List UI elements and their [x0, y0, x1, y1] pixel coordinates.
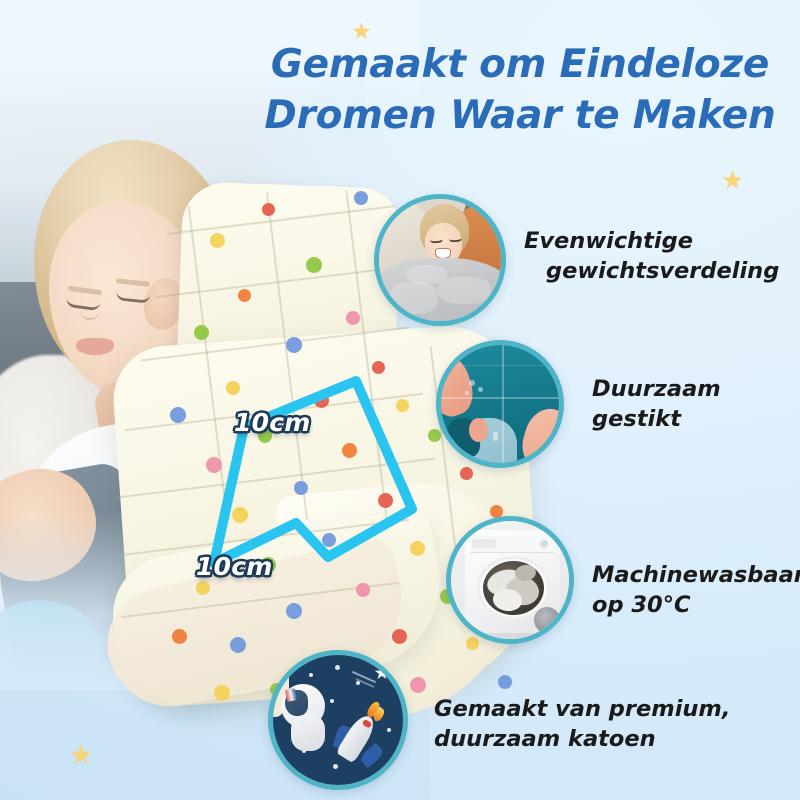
feature-image-balanced-weight: [374, 194, 506, 326]
blanket-dot: [306, 257, 322, 273]
page-title-line1: Gemaakt om Eindeloze: [250, 40, 790, 91]
measurement-label-top: 10cm: [234, 408, 310, 437]
page-title: Gemaakt om Eindeloze Dromen Waar te Make…: [250, 40, 790, 141]
blanket-dot: [226, 381, 240, 395]
blanket-dot: [396, 399, 409, 412]
feature-label-line2: op 30°C: [592, 590, 800, 620]
blanket-dot: [410, 541, 425, 556]
feature-label-balanced-weight: Evenwichtige gewichtsverdeling: [524, 226, 779, 286]
blanket-dot: [238, 289, 251, 302]
feature-label-premium-cotton: Gemaakt van premium, duurzaam katoen: [434, 694, 730, 754]
page-title-line2: Dromen Waar te Maken: [250, 91, 790, 142]
infographic-canvas: 10cm 10cm Gemaakt om Eindeloze Dromen Wa…: [0, 0, 800, 800]
blanket-dot: [294, 481, 308, 495]
blanket-dot: [378, 493, 393, 508]
feature-label-durable-stitching: Duurzaam gestikt: [592, 374, 721, 434]
blanket-dot: [372, 361, 385, 374]
feature-label-line1: Gemaakt van premium,: [434, 694, 730, 724]
feature-label-line1: Machinewasbaar: [592, 560, 800, 590]
blanket-dot: [498, 675, 512, 689]
feature-label-line2: gewichtsverdeling: [524, 256, 779, 286]
blanket-dot: [206, 457, 222, 473]
feature-label-line2: duurzaam katoen: [434, 724, 730, 754]
blanket-dot: [356, 583, 370, 597]
blanket-dot: [170, 407, 186, 423]
blanket-dot: [428, 429, 441, 442]
blanket-dot: [210, 233, 225, 248]
blanket-dot: [172, 629, 187, 644]
blanket-dot: [232, 507, 248, 523]
blanket-dot: [196, 581, 210, 595]
blanket-dot: [314, 393, 329, 408]
blanket-dot: [322, 533, 336, 547]
blanket-dot: [354, 191, 368, 205]
feature-image-machine-washable: [446, 516, 574, 644]
blanket-dot: [410, 677, 426, 693]
blanket-dot: [286, 337, 302, 353]
feature-image-durable-stitching: [436, 340, 564, 468]
blanket-dot: [262, 203, 275, 216]
feature-label-line2: gestikt: [592, 404, 721, 434]
blanket-dot: [214, 685, 230, 701]
blanket-dot: [346, 311, 360, 325]
feature-label-line1: Duurzaam: [592, 374, 721, 404]
blanket-dot: [460, 467, 473, 480]
blanket-dot: [286, 603, 302, 619]
feature-label-line1: Evenwichtige: [524, 226, 779, 256]
blanket-dot: [392, 629, 407, 644]
blanket-dot: [342, 443, 357, 458]
feature-label-machine-washable: Machinewasbaar op 30°C: [592, 560, 800, 620]
measurement-label-bottom: 10cm: [196, 552, 272, 581]
feature-image-premium-cotton: [268, 650, 408, 790]
blanket-dot: [230, 637, 246, 653]
blanket-dot: [194, 325, 209, 340]
